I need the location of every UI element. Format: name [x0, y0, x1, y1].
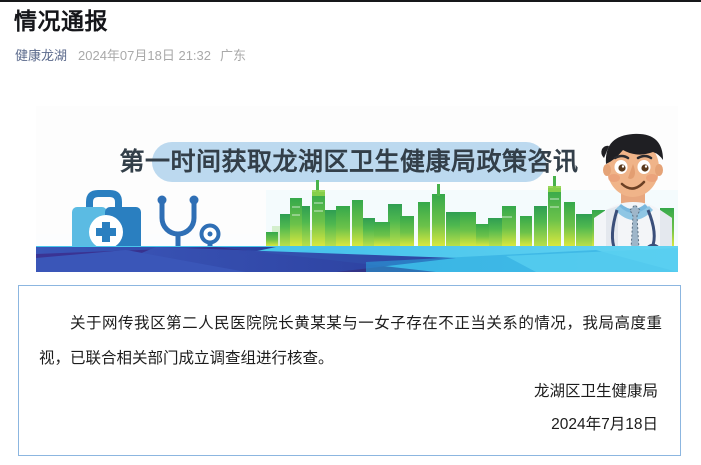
top-divider-bar [0, 0, 701, 2]
wave-graphic [36, 246, 678, 272]
article-page: 情况通报 健康龙湖2024年07月18日 21:32广东 [0, 0, 701, 465]
banner-headline-text: 第一时间获取龙湖区卫生健康局政策咨讯 [119, 147, 578, 176]
banner-illustration: 第一时间获取龙湖区卫生健康局政策咨讯 [36, 106, 678, 272]
page-title: 情况通报 [14, 6, 108, 36]
signature-block: 龙湖区卫生健康局 2024年7月18日 [534, 375, 658, 441]
byline-datetime: 2024年07月18日 21:32 [78, 48, 211, 63]
notice-body-text: 关于网传我区第二人民医院院长黄某某与一女子存在不正当关系的情况，我局高度重视，已… [39, 306, 662, 376]
notice-box: 关于网传我区第二人民医院院长黄某某与一女子存在不正当关系的情况，我局高度重视，已… [18, 285, 681, 456]
signature-date: 2024年7月18日 [534, 408, 658, 441]
byline: 健康龙湖2024年07月18日 21:32广东 [15, 46, 246, 65]
byline-region: 广东 [220, 48, 246, 63]
signature-organization: 龙湖区卫生健康局 [534, 375, 658, 408]
byline-account-name[interactable]: 健康龙湖 [15, 48, 67, 63]
banner-image: 第一时间获取龙湖区卫生健康局政策咨讯 [36, 106, 678, 272]
